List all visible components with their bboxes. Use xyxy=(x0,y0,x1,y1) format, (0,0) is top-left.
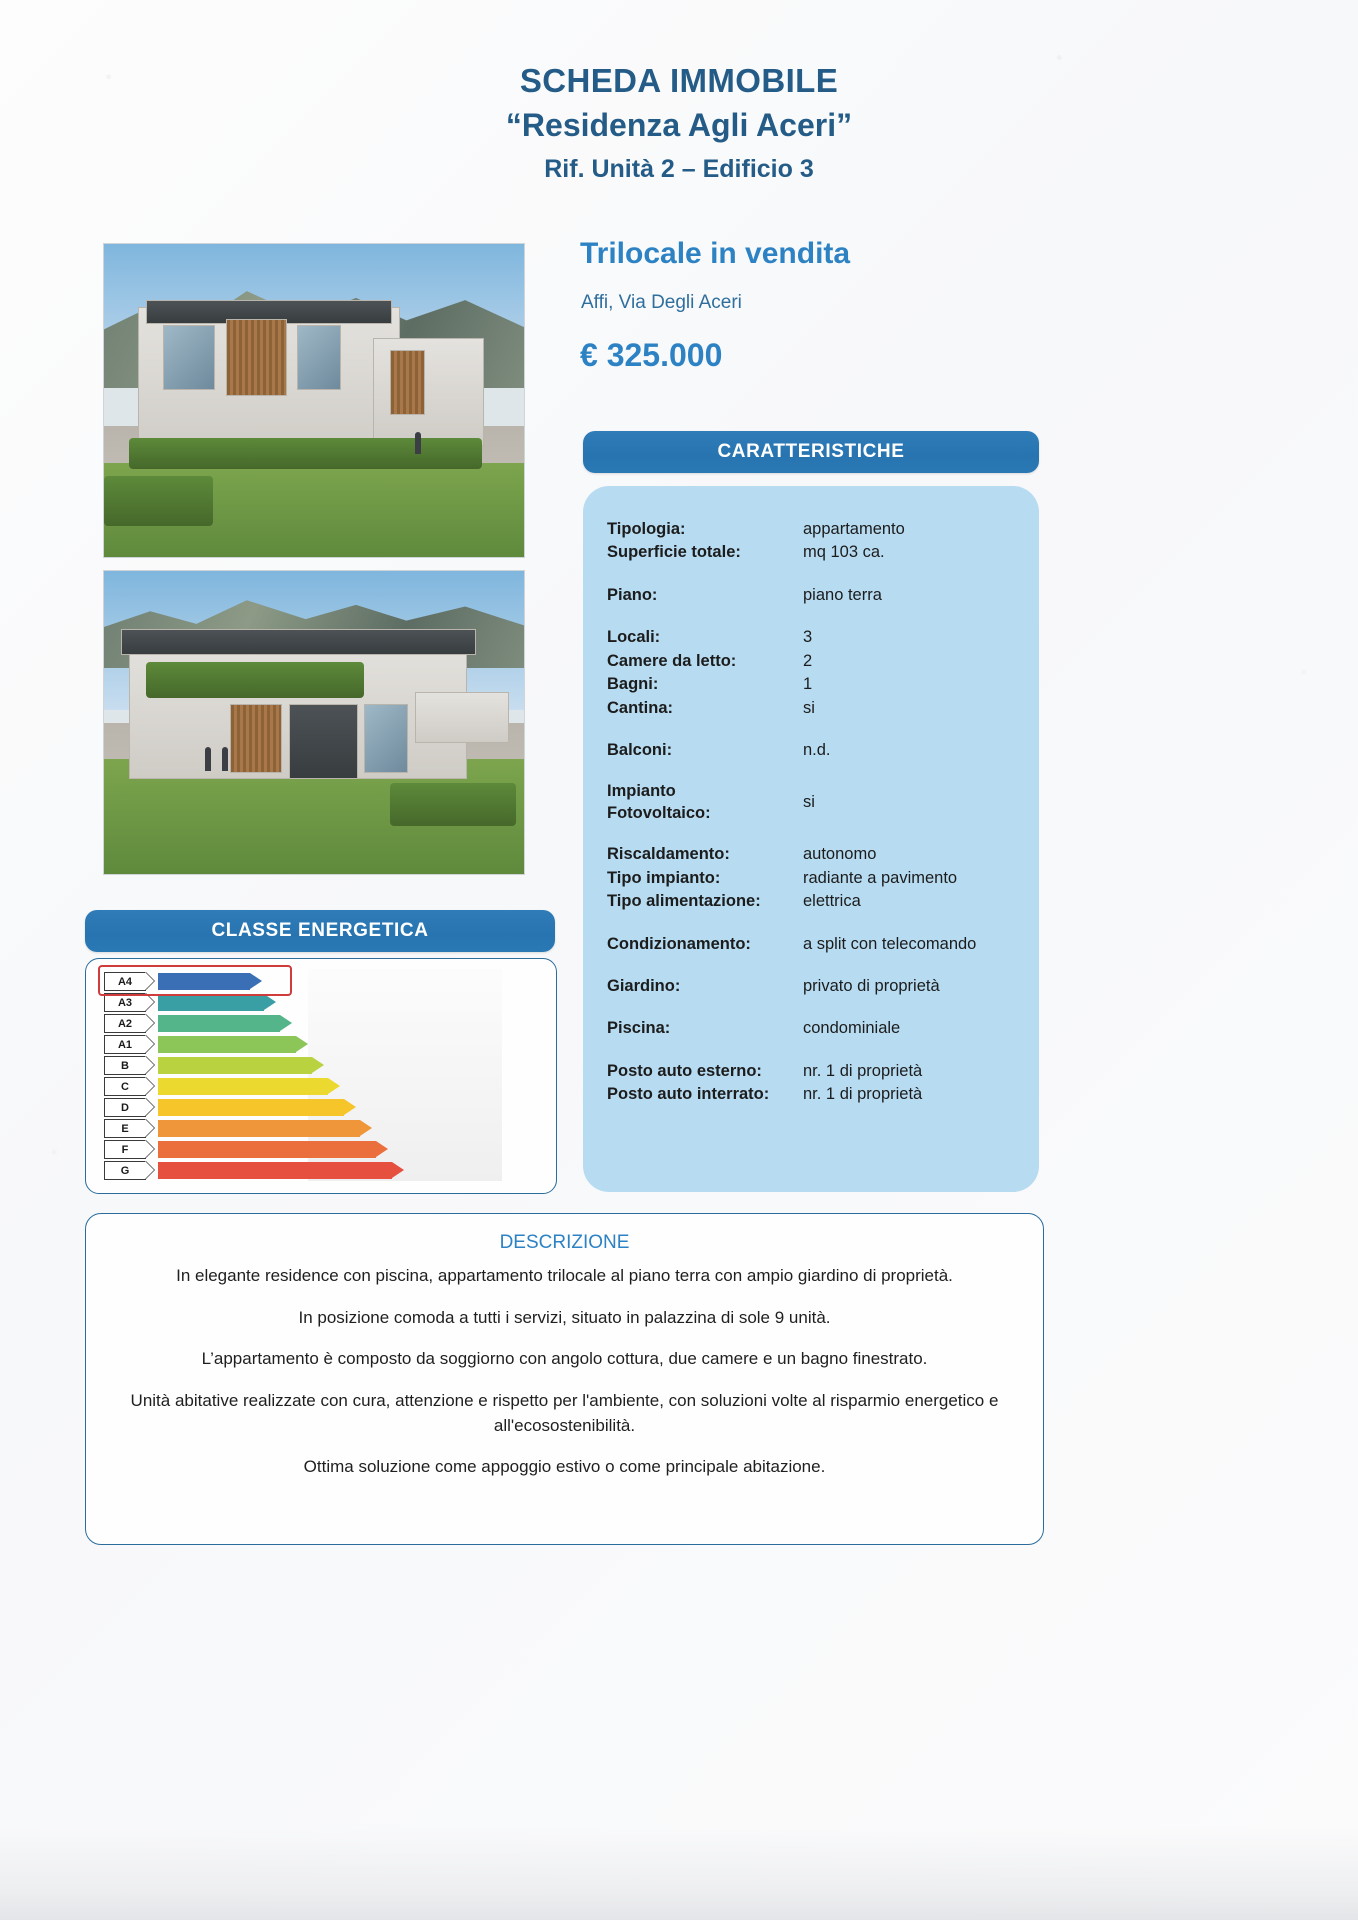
energy-class-row: A1 xyxy=(104,1034,542,1055)
energy-class-bar xyxy=(158,1162,392,1179)
energy-class-label: A2 xyxy=(104,1014,146,1033)
spec-label: Giardino: xyxy=(607,975,803,998)
energy-class-bar xyxy=(158,1036,296,1053)
spec-row: Locali:3 xyxy=(607,626,1025,649)
energy-class-label: G xyxy=(104,1161,146,1180)
spec-label: Tipologia: xyxy=(607,518,803,541)
spec-value: nr. 1 di proprietà xyxy=(803,1083,922,1106)
spec-row: ImpiantoFotovoltaico:si xyxy=(607,781,1025,824)
energy-class-label: F xyxy=(104,1140,146,1159)
energy-class-bar xyxy=(158,1057,312,1074)
photo-exterior-garden xyxy=(103,570,525,875)
spec-label: Cantina: xyxy=(607,697,803,720)
spec-value: 2 xyxy=(803,650,812,673)
spec-value: a split con telecomando xyxy=(803,933,976,956)
listing-price: € 325.000 xyxy=(580,337,722,374)
specs-table: Tipologia:appartamentoSuperficie totale:… xyxy=(607,518,1025,1126)
caratteristiche-banner: CARATTERISTICHE xyxy=(583,431,1039,473)
description-panel: DESCRIZIONE In elegante residence con pi… xyxy=(85,1213,1044,1545)
residence-name: “Residenza Agli Aceri” xyxy=(0,105,1358,147)
energy-class-row: G xyxy=(104,1160,542,1181)
spec-group: Locali:3Camere da letto:2Bagni:1Cantina:… xyxy=(607,626,1025,720)
energy-class-bar xyxy=(158,994,264,1011)
spec-label: ImpiantoFotovoltaico: xyxy=(607,781,803,824)
energy-class-row: A3 xyxy=(104,992,542,1013)
spec-group: ImpiantoFotovoltaico:si xyxy=(607,781,1025,824)
spec-label: Posto auto interrato: xyxy=(607,1083,803,1106)
description-paragraph: Ottima soluzione come appoggio estivo o … xyxy=(120,1455,1009,1480)
spec-row: Condizionamento:a split con telecomando xyxy=(607,933,1025,956)
spec-value: 1 xyxy=(803,673,812,696)
listing-address: Affi, Via Degli Aceri xyxy=(581,292,742,314)
caratteristiche-panel: Tipologia:appartamentoSuperficie totale:… xyxy=(583,486,1039,1192)
spec-row: Superficie totale:mq 103 ca. xyxy=(607,541,1025,564)
document-page: SCHEDA IMMOBILE “Residenza Agli Aceri” R… xyxy=(0,0,1358,1920)
energy-class-row: C xyxy=(104,1076,542,1097)
description-paragraph: L’appartamento è composto da soggiorno c… xyxy=(120,1347,1009,1372)
energy-class-row: A2 xyxy=(104,1013,542,1034)
spec-value: appartamento xyxy=(803,518,905,541)
spec-row: Tipo alimentazione:elettrica xyxy=(607,890,1025,913)
spec-label: Condizionamento: xyxy=(607,933,803,956)
spec-value: mq 103 ca. xyxy=(803,541,885,564)
spec-value: si xyxy=(803,697,815,720)
energy-class-label: A1 xyxy=(104,1035,146,1054)
spec-value: piano terra xyxy=(803,584,882,607)
spec-label: Riscaldamento: xyxy=(607,843,803,866)
spec-group: Piano:piano terra xyxy=(607,584,1025,607)
energy-class-label: C xyxy=(104,1077,146,1096)
spec-label: Piscina: xyxy=(607,1017,803,1040)
spec-row: Posto auto esterno:nr. 1 di proprietà xyxy=(607,1060,1025,1083)
spec-group: Tipologia:appartamentoSuperficie totale:… xyxy=(607,518,1025,565)
energy-class-rows: A4A3A2A1BCDEFG xyxy=(104,971,542,1181)
spec-value: si xyxy=(803,791,815,814)
spec-label: Tipo impianto: xyxy=(607,867,803,890)
energy-class-label: B xyxy=(104,1056,146,1075)
description-body: In elegante residence con piscina, appar… xyxy=(86,1264,1043,1480)
spec-group: Riscaldamento:autonomoTipo impianto:radi… xyxy=(607,843,1025,913)
spec-value: n.d. xyxy=(803,739,831,762)
spec-label: Bagni: xyxy=(607,673,803,696)
spec-row: Piscina:condominiale xyxy=(607,1017,1025,1040)
spec-row: Tipologia:appartamento xyxy=(607,518,1025,541)
spec-label: Tipo alimentazione: xyxy=(607,890,803,913)
energy-class-row: F xyxy=(104,1139,542,1160)
spec-value: elettrica xyxy=(803,890,861,913)
energy-class-bar xyxy=(158,1078,328,1095)
listing-headline: Trilocale in vendita xyxy=(580,237,850,271)
energy-class-chart: A4A3A2A1BCDEFG xyxy=(85,958,557,1194)
spec-value: nr. 1 di proprietà xyxy=(803,1060,922,1083)
document-header: SCHEDA IMMOBILE “Residenza Agli Aceri” R… xyxy=(0,62,1358,184)
spec-group: Condizionamento:a split con telecomando xyxy=(607,933,1025,956)
page-title: SCHEDA IMMOBILE xyxy=(0,62,1358,101)
description-paragraph: In elegante residence con piscina, appar… xyxy=(120,1264,1009,1289)
description-paragraph: In posizione comoda a tutti i servizi, s… xyxy=(120,1306,1009,1331)
spec-value: condominiale xyxy=(803,1017,900,1040)
energy-class-row: B xyxy=(104,1055,542,1076)
spec-row: Camere da letto:2 xyxy=(607,650,1025,673)
spec-row: Bagni:1 xyxy=(607,673,1025,696)
spec-label: Camere da letto: xyxy=(607,650,803,673)
spec-label: Piano: xyxy=(607,584,803,607)
spec-row: Cantina:si xyxy=(607,697,1025,720)
energy-class-row: E xyxy=(104,1118,542,1139)
energy-class-bar xyxy=(158,1099,344,1116)
spec-row: Tipo impianto:radiante a pavimento xyxy=(607,867,1025,890)
spec-label: Posto auto esterno: xyxy=(607,1060,803,1083)
spec-row: Piano:piano terra xyxy=(607,584,1025,607)
energy-class-label: D xyxy=(104,1098,146,1117)
energy-class-bar xyxy=(158,1120,360,1137)
unit-reference: Rif. Unità 2 – Edificio 3 xyxy=(0,155,1358,184)
spec-row: Posto auto interrato:nr. 1 di proprietà xyxy=(607,1083,1025,1106)
spec-group: Giardino:privato di proprietà xyxy=(607,975,1025,998)
spec-label: Locali: xyxy=(607,626,803,649)
photo-exterior-front xyxy=(103,243,525,558)
spec-value: privato di proprietà xyxy=(803,975,940,998)
spec-group: Piscina:condominiale xyxy=(607,1017,1025,1040)
energy-class-label: A4 xyxy=(104,972,146,991)
spec-row: Giardino:privato di proprietà xyxy=(607,975,1025,998)
classe-energetica-banner: CLASSE ENERGETICA xyxy=(85,910,555,952)
energy-class-bar xyxy=(158,1141,376,1158)
spec-value: 3 xyxy=(803,626,812,649)
energy-class-label: E xyxy=(104,1119,146,1138)
spec-row: Balconi:n.d. xyxy=(607,739,1025,762)
description-title: DESCRIZIONE xyxy=(86,1232,1043,1254)
spec-label: Balconi: xyxy=(607,739,803,762)
spec-value: autonomo xyxy=(803,843,876,866)
spec-label: Superficie totale: xyxy=(607,541,803,564)
spec-row: Riscaldamento:autonomo xyxy=(607,843,1025,866)
spec-group: Posto auto esterno:nr. 1 di proprietàPos… xyxy=(607,1060,1025,1107)
energy-class-row: D xyxy=(104,1097,542,1118)
energy-class-label: A3 xyxy=(104,993,146,1012)
description-paragraph: Unità abitative realizzate con cura, att… xyxy=(120,1389,1009,1438)
energy-class-row: A4 xyxy=(104,971,542,992)
spec-group: Balconi:n.d. xyxy=(607,739,1025,762)
energy-class-bar xyxy=(158,973,250,990)
energy-class-bar xyxy=(158,1015,280,1032)
spec-value: radiante a pavimento xyxy=(803,867,957,890)
